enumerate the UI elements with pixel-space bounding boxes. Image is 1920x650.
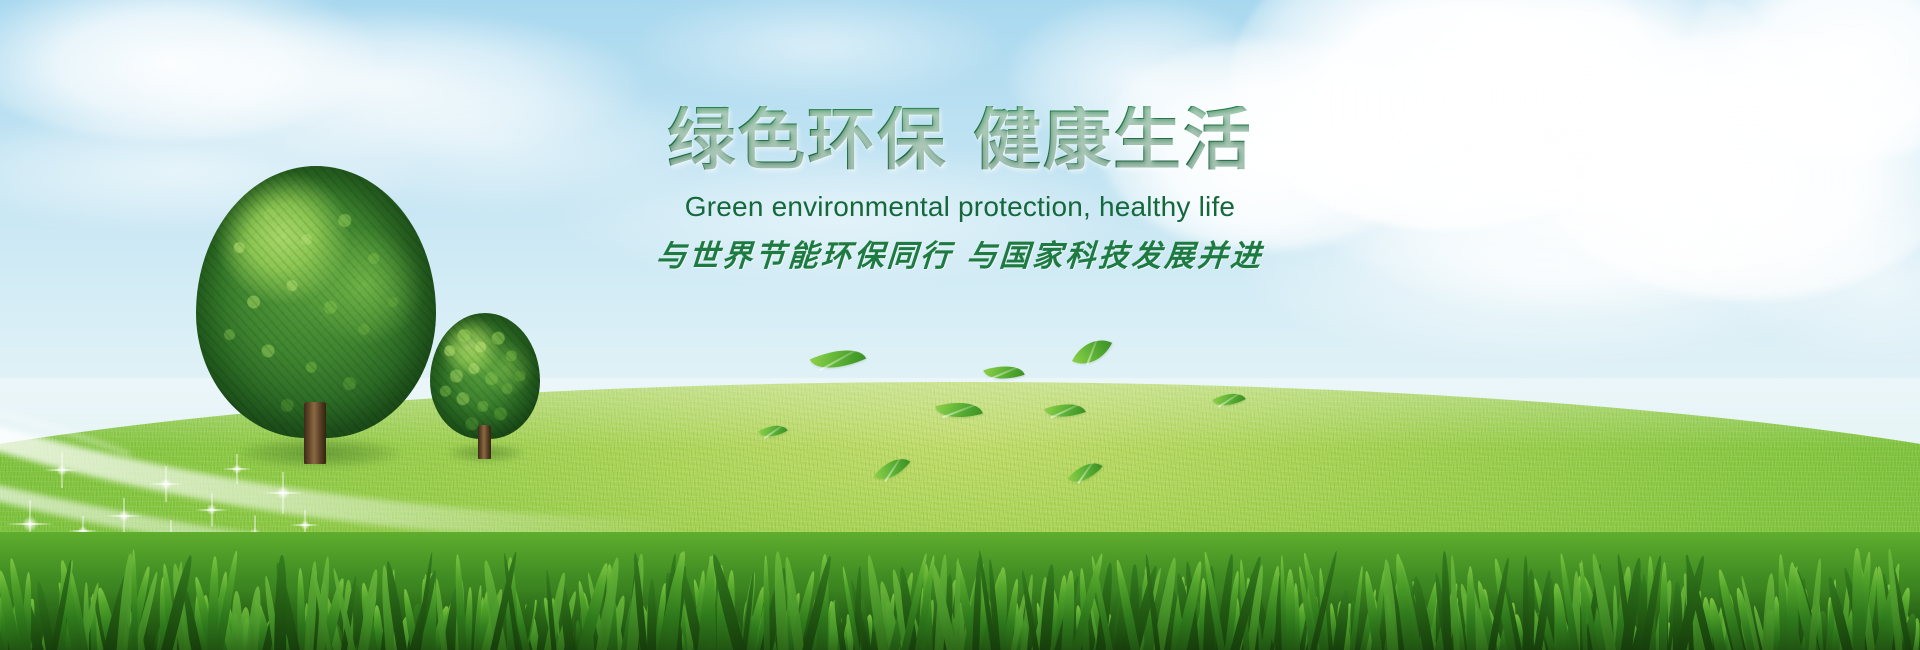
foreground-grass [0, 532, 1920, 650]
cloud-left-6 [640, 0, 1000, 100]
page-title: 绿色环保 健康生活 [630, 106, 1290, 175]
cloud-right-5 [1690, 0, 1920, 160]
big-tree-canopy [196, 166, 436, 438]
subtitle-english: Green environmental protection, healthy … [630, 191, 1290, 223]
eco-banner: 绿色环保 健康生活 Green environmental protection… [0, 0, 1920, 650]
cloud-left-2 [120, 10, 640, 160]
small-tree-trunk [478, 425, 491, 459]
cloud-right-1 [1230, 0, 1660, 230]
big-tree-trunk [304, 402, 326, 464]
cloud-right-9 [1730, 200, 1920, 360]
cloud-right-2 [1400, 0, 1780, 210]
cloud-right-6 [1320, 120, 1840, 310]
subtitle-chinese-slogan: 与世界节能环保同行 与国家科技发展并进 [628, 231, 1291, 275]
small-tree [430, 313, 540, 463]
cloud-left-1 [0, 0, 380, 140]
cloud-right-7 [1250, 190, 1850, 360]
big-tree [196, 166, 436, 466]
cloud-right-4 [1540, 30, 1920, 300]
headline-block: 绿色环保 健康生活 Green environmental protection… [630, 106, 1290, 275]
small-tree-canopy [430, 313, 540, 439]
